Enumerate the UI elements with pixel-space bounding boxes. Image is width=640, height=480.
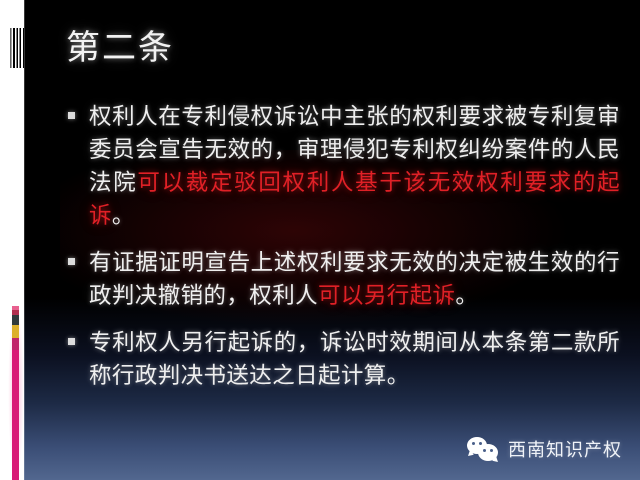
- bullet-text: 有证据证明宣告上述权利要求无效的决定被生效的行政判决撤销的，权利人可以另行起诉。: [89, 246, 620, 312]
- strip-edge-divider: [24, 0, 25, 480]
- bullet-item: 权利人在专利侵权诉讼中主张的权利要求被专利复审委员会宣告无效的，审理侵犯专利权纠…: [68, 100, 620, 232]
- bullet-segment-highlight: 可以裁定驳回权利人基于该无效权利要求的起诉: [89, 170, 620, 228]
- bullet-text: 专利权人另行起诉的，诉讼时效期间从本条第二款所称行政判决书送达之日起计算。: [89, 326, 620, 392]
- wechat-bubble-front-tail: [491, 455, 498, 463]
- wechat-eye: [490, 449, 493, 452]
- bullet-segment-highlight: 可以另行起诉: [318, 283, 455, 308]
- slide-title: 第二条: [66, 30, 174, 67]
- wechat-icon: [467, 436, 499, 462]
- square-bullet-icon: [68, 338, 75, 345]
- bullet-segment-tail: 。: [112, 203, 135, 228]
- bullet-text: 权利人在专利侵权诉讼中主张的权利要求被专利复审委员会宣告无效的，审理侵犯专利权纠…: [89, 100, 620, 232]
- square-bullet-icon: [68, 258, 75, 265]
- bullet-segment-plain: 专利权人另行起诉的，诉讼时效期间从本条第二款所称行政判决书送达之日起计算。: [89, 330, 620, 388]
- square-bullet-icon: [68, 112, 75, 119]
- wechat-eye: [483, 449, 486, 452]
- bullet-item: 专利权人另行起诉的，诉讼时效期间从本条第二款所称行政判决书送达之日起计算。: [68, 326, 620, 392]
- wechat-bubble-back-tail: [468, 449, 475, 457]
- barcode-ornament-icon: [10, 28, 24, 68]
- slide-body: 权利人在专利侵权诉讼中主张的权利要求被专利复审委员会宣告无效的，审理侵犯专利权纠…: [68, 100, 620, 406]
- watermark-label: 西南知识产权: [508, 436, 622, 462]
- color-ribbon-ornament: [12, 306, 19, 480]
- presentation-slide: 第二条 权利人在专利侵权诉讼中主张的权利要求被专利复审委员会宣告无效的，审理侵犯…: [0, 0, 640, 480]
- bullet-item: 有证据证明宣告上述权利要求无效的决定被生效的行政判决撤销的，权利人可以另行起诉。: [68, 246, 620, 312]
- wechat-eye: [472, 442, 475, 445]
- bullet-segment-tail: 。: [455, 283, 478, 308]
- watermark: 西南知识产权: [467, 436, 622, 462]
